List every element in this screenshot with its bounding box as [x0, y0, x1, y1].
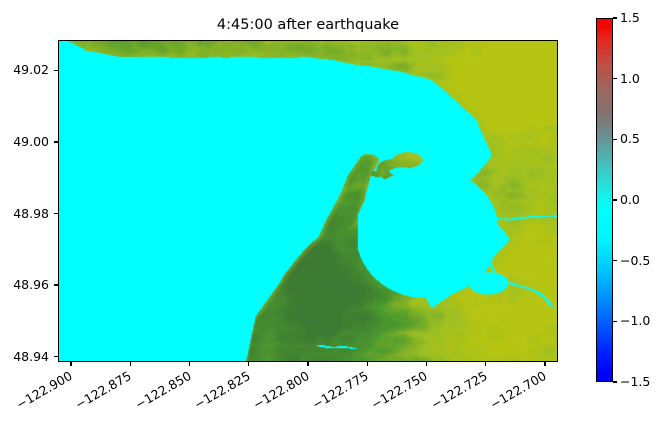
- x-tick-mark: [130, 362, 131, 366]
- y-tick-mark: [54, 213, 58, 214]
- x-tick-label: −122.875: [23, 369, 133, 440]
- x-tick-label: −122.800: [201, 369, 311, 440]
- x-tick-label: −122.850: [82, 369, 192, 440]
- colorbar-tick-label: 1.5: [620, 11, 640, 24]
- y-tick-mark: [54, 141, 58, 142]
- y-tick-label: 49.00: [0, 135, 49, 148]
- colorbar-tick-mark: [613, 260, 617, 261]
- x-tick-label: −122.775: [260, 369, 370, 440]
- colorbar-tick-mark: [613, 139, 617, 140]
- colorbar-tick-label: −1.0: [620, 314, 650, 327]
- y-tick-mark: [54, 356, 58, 357]
- colorbar-tick-mark: [613, 78, 617, 79]
- x-tick-mark: [307, 362, 308, 366]
- colorbar-tick-label: 0.5: [620, 132, 640, 145]
- colorbar-tick-mark: [613, 199, 617, 200]
- y-tick-label: 49.02: [0, 63, 49, 76]
- terrain-heatmap-canvas: [59, 41, 557, 361]
- x-tick-label: −122.725: [379, 369, 489, 440]
- y-tick-mark: [54, 70, 58, 71]
- colorbar-tick-mark: [613, 321, 617, 322]
- colorbar-tick-label: 1.0: [620, 72, 640, 85]
- colorbar-tick-label: −0.5: [620, 254, 650, 267]
- colorbar-tick-mark: [613, 381, 617, 382]
- colorbar[interactable]: [596, 18, 613, 382]
- y-tick-label: 48.98: [0, 207, 49, 220]
- colorbar-tick-label: 0.0: [620, 193, 640, 206]
- x-tick-mark: [485, 362, 486, 366]
- x-tick-label: −122.700: [438, 369, 548, 440]
- x-tick-mark: [367, 362, 368, 366]
- matplotlib-figure: 4:45:00 after earthquake 49.0249.0048.98…: [0, 0, 658, 419]
- page-title: 4:45:00 after earthquake: [58, 16, 558, 34]
- x-tick-mark: [189, 362, 190, 366]
- x-tick-label: −122.825: [142, 369, 252, 440]
- colorbar-tick-label: −1.5: [620, 375, 650, 388]
- x-tick-mark: [70, 362, 71, 366]
- x-tick-label: −122.750: [319, 369, 429, 440]
- y-tick-label: 48.96: [0, 278, 49, 291]
- x-tick-mark: [426, 362, 427, 366]
- y-tick-label: 48.94: [0, 350, 49, 363]
- x-tick-mark: [248, 362, 249, 366]
- y-tick-mark: [54, 284, 58, 285]
- map-plot-area[interactable]: [58, 40, 558, 362]
- colorbar-tick-mark: [613, 17, 617, 18]
- x-tick-mark: [544, 362, 545, 366]
